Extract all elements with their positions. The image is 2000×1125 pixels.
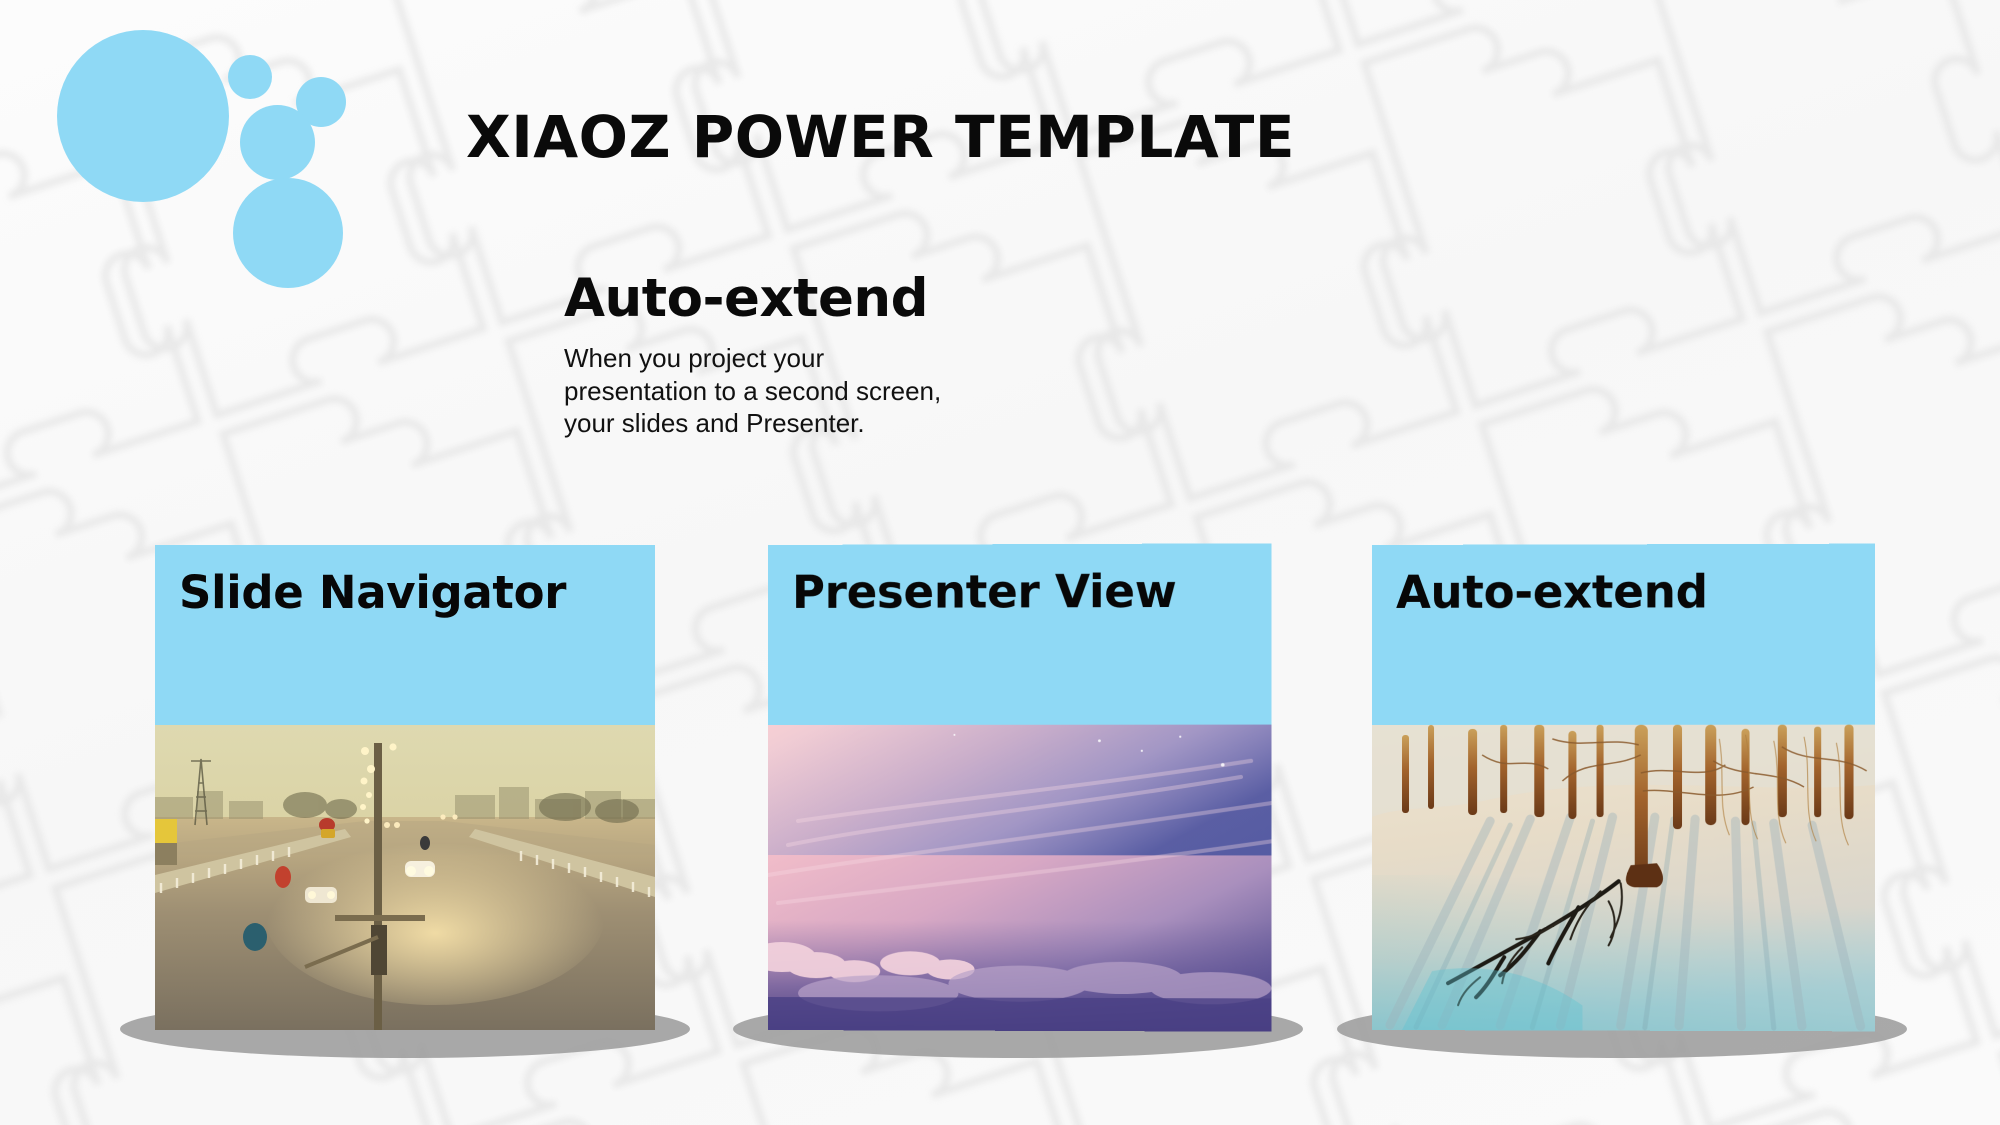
- bubble-xsmall-icon: [228, 55, 272, 99]
- pink-sunset-sky-above-clouds-photo: [768, 725, 1271, 1032]
- card-title: Slide Navigator: [179, 567, 629, 618]
- intro-body-text: When you project your presentation to a …: [564, 342, 944, 439]
- feature-card-auto-extend[interactable]: Auto-extend: [1372, 545, 1872, 1030]
- card-title: Auto-extend: [1396, 566, 1848, 618]
- card-header: Slide Navigator: [155, 545, 655, 725]
- slide-canvas: XIAOZ POWER TEMPLATE Auto-extend When yo…: [0, 0, 2000, 1125]
- feature-card-row: Slide Navigator: [0, 545, 2000, 1065]
- intro-block: Auto-extend When you project your presen…: [564, 270, 984, 439]
- city-bridge-at-dusk-photo: [155, 725, 655, 1030]
- card-header: Auto-extend: [1372, 544, 1875, 725]
- card-title: Presenter View: [792, 566, 1245, 619]
- feature-card-presenter-view[interactable]: Presenter View: [768, 545, 1268, 1030]
- feature-card-slide-navigator[interactable]: Slide Navigator: [155, 545, 655, 1030]
- card-header: Presenter View: [768, 543, 1271, 725]
- page-title: XIAOZ POWER TEMPLATE: [466, 103, 1295, 171]
- intro-heading: Auto-extend: [564, 270, 984, 328]
- bubble-large-icon: [57, 30, 229, 202]
- bubble-medium-icon: [240, 105, 315, 180]
- snowy-winter-forest-photo: [1372, 725, 1875, 1032]
- bubble-large2-icon: [233, 178, 343, 288]
